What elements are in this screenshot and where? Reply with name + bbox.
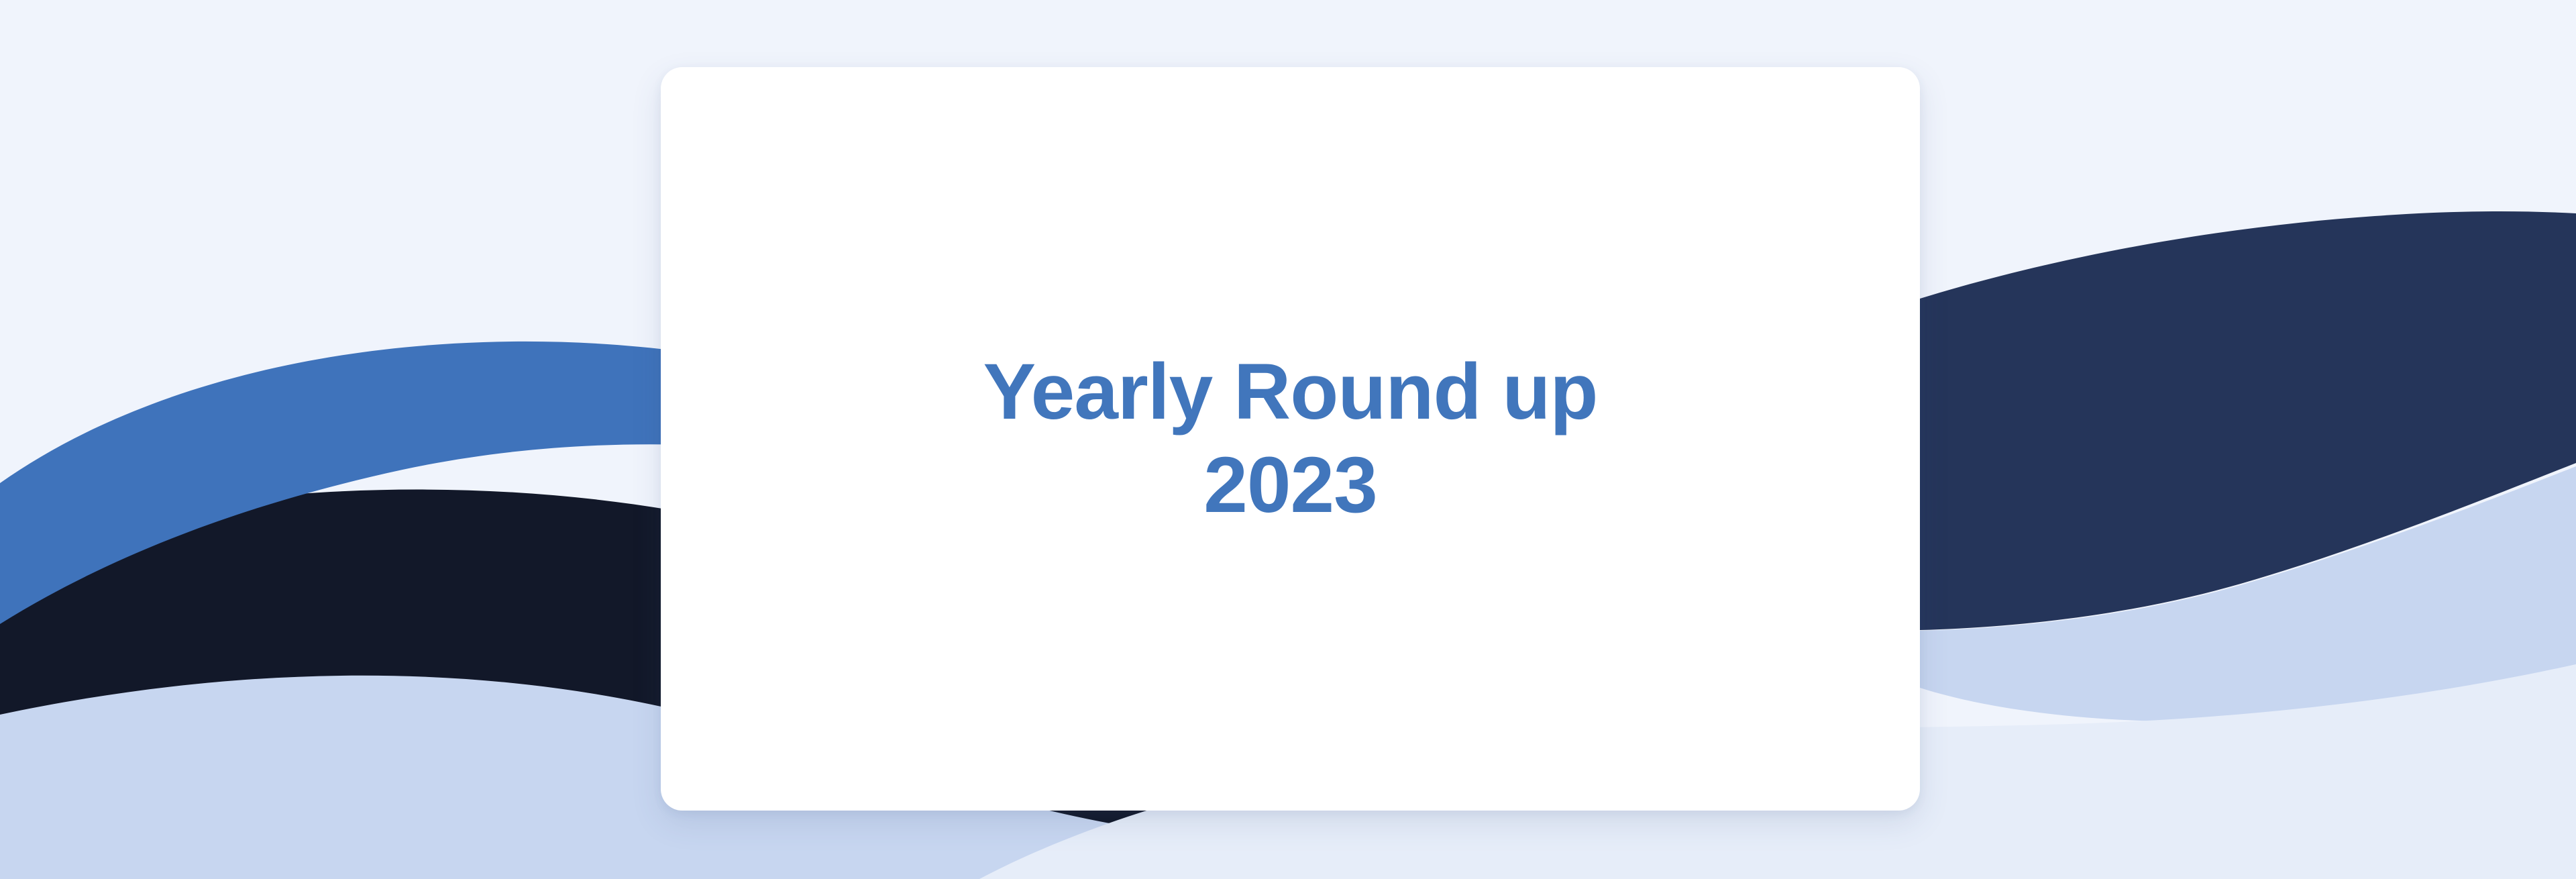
page-title: Yearly Round up 2023 [741,346,1839,532]
presentation-slide: Yearly Round up 2023 [0,0,2576,879]
title-card: Yearly Round up 2023 [661,67,1920,811]
title-card-body: Yearly Round up 2023 [741,346,1839,532]
